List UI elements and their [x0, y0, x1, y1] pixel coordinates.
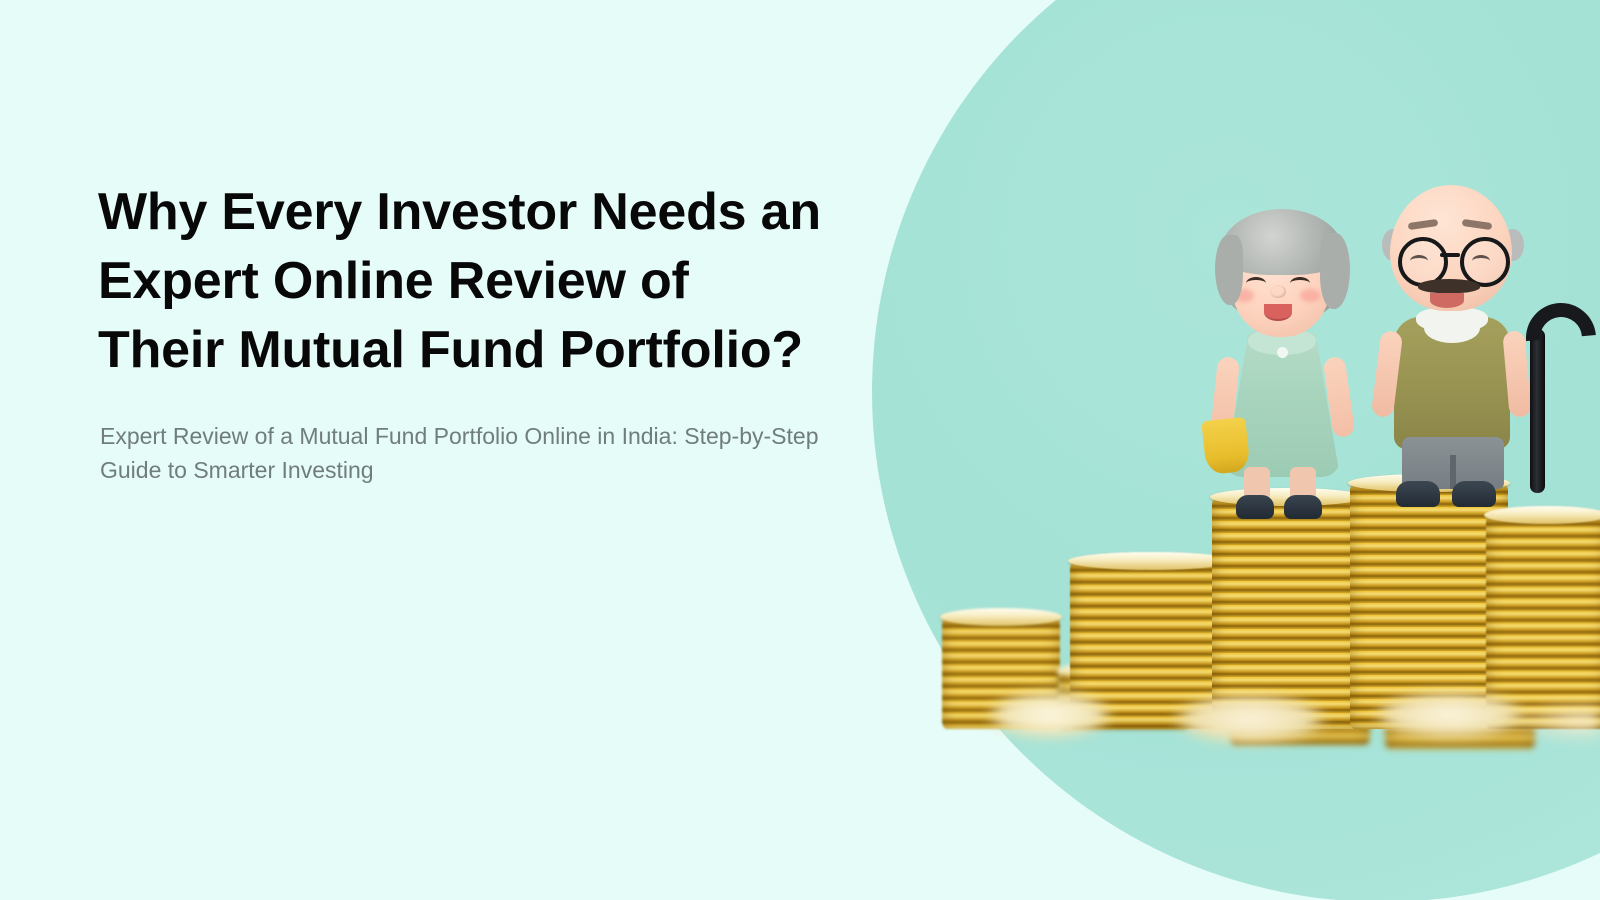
grandmother-mouth [1264, 304, 1292, 321]
grandfather-mouth [1430, 293, 1464, 308]
grandmother-purse [1201, 417, 1250, 475]
grandfather-vest [1394, 317, 1510, 449]
page-title: Why Every Investor Needs an Expert Onlin… [98, 178, 828, 385]
grandfather-left-shoe [1396, 481, 1440, 507]
foreground-coins [930, 685, 1600, 755]
grandmother-right-cheek [1300, 289, 1320, 302]
grandmother-right-eye [1290, 277, 1310, 290]
grandmother-nose [1270, 285, 1286, 298]
grandfather-figurine [1368, 181, 1536, 513]
grandmother-figurine [1208, 205, 1356, 525]
grandmother-left-shoe [1236, 495, 1274, 519]
slide-text-block: Why Every Investor Needs an Expert Onlin… [98, 178, 828, 487]
page-subtitle: Expert Review of a Mutual Fund Portfolio… [100, 419, 828, 487]
grandfather-right-shoe [1452, 481, 1496, 507]
walking-cane [1530, 329, 1545, 493]
grandmother-left-eye [1246, 277, 1266, 290]
grandmother-hair-front [1220, 209, 1344, 275]
grandmother-dress-button [1277, 347, 1288, 358]
elderly-couple-figurines-on-gold-coin-stacks [930, 190, 1600, 755]
grandfather-glasses-bridge [1440, 253, 1460, 257]
slide-canvas: Why Every Investor Needs an Expert Onlin… [0, 0, 1600, 900]
grandmother-right-shoe [1284, 495, 1322, 519]
grandfather-mustache [1418, 279, 1480, 293]
